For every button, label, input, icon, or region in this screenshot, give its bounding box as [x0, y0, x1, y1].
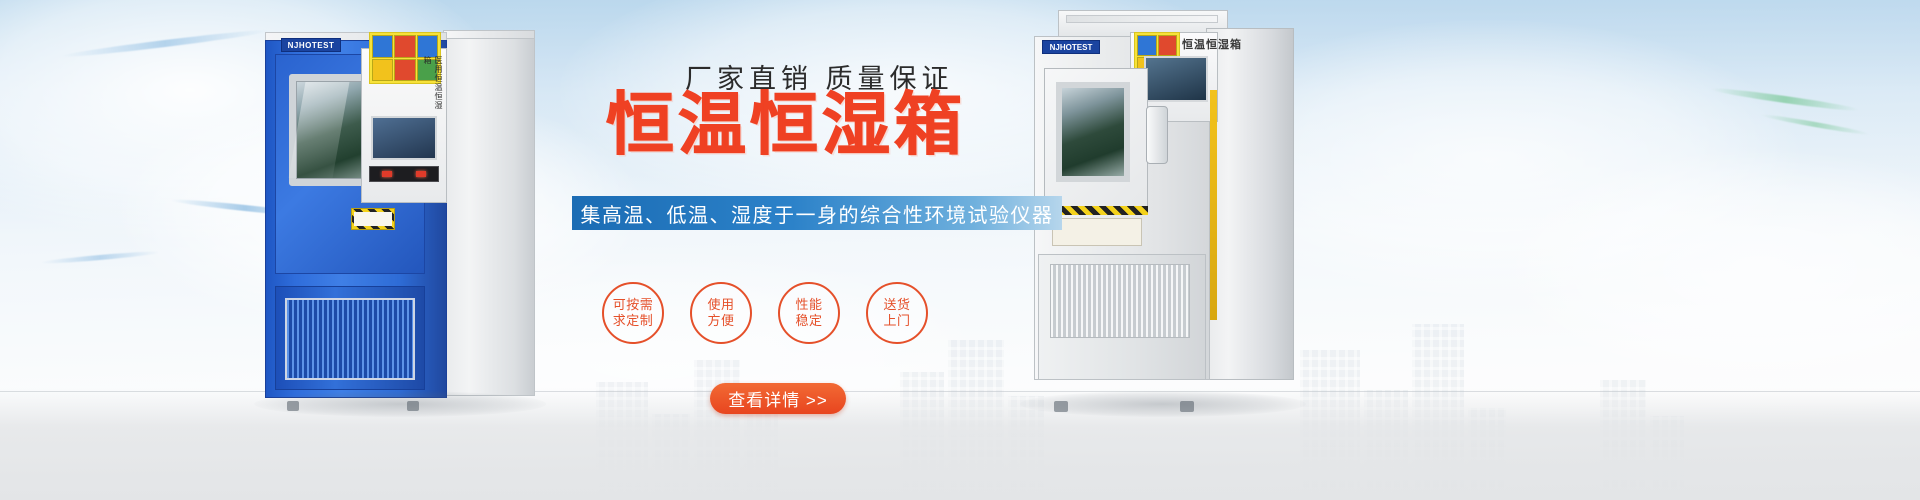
feature-circle-custom[interactable]: 可按需 求定制	[602, 282, 664, 344]
product-image-left: NJHOTEST 医用恒温恒湿箱	[265, 30, 535, 405]
chamber-side-panel	[1206, 28, 1294, 380]
feature-line-2: 稳定	[795, 313, 822, 329]
feature-line-2: 上门	[883, 313, 910, 329]
status-led	[416, 171, 426, 177]
feature-line-2: 方便	[707, 313, 734, 329]
feature-line-1: 使用	[707, 297, 734, 313]
feature-line-1: 可按需	[613, 297, 654, 313]
product-shadow	[254, 391, 546, 417]
chamber-top-vent	[1066, 15, 1218, 23]
banner-headline: 恒温恒湿箱	[606, 92, 966, 160]
promo-banner: NJHOTEST 医用恒温恒湿箱 NJHOTEST 恒温恒湿	[0, 0, 1920, 500]
control-screen	[1144, 56, 1208, 102]
cloud-decoration	[1500, 150, 1920, 390]
feature-line-1: 送货	[883, 297, 910, 313]
panel-model-label: 医用恒温恒湿箱	[364, 56, 444, 112]
banner-subtitle-text: 集高温、低温、湿度于一身的综合性环境试验仪器	[581, 199, 1054, 228]
feature-circle-delivery[interactable]: 送货 上门	[866, 282, 928, 344]
feature-line-1: 性能	[795, 297, 822, 313]
status-led	[382, 171, 392, 177]
banner-copy-block: 厂家直销 质量保证 恒温恒湿箱 集高温、低温、湿度于一身的综合性环境试验仪器 可…	[560, 0, 1080, 500]
blue-streak-decoration	[60, 27, 269, 60]
feature-circle-list: 可按需 求定制 使用 方便 性能 稳定 送货 上门	[602, 282, 928, 344]
brand-logo-left: NJHOTEST	[281, 38, 341, 52]
ventilation-grille	[285, 298, 415, 380]
control-button-row	[369, 166, 439, 182]
product-title-label: 恒温恒湿箱	[1182, 36, 1260, 54]
blue-streak-decoration	[40, 250, 160, 265]
hazard-label	[354, 212, 392, 226]
door-handle	[1146, 106, 1168, 164]
feature-circle-easy-use[interactable]: 使用 方便	[690, 282, 752, 344]
green-streak-decoration	[1710, 86, 1860, 114]
chamber-side-panel	[443, 38, 535, 396]
control-screen	[371, 116, 437, 160]
view-details-button[interactable]: 查看详情 >>	[710, 383, 846, 414]
green-streak-decoration	[1760, 112, 1869, 136]
feature-circle-stable[interactable]: 性能 稳定	[778, 282, 840, 344]
banner-subtitle-bar: 集高温、低温、湿度于一身的综合性环境试验仪器	[572, 196, 1062, 230]
feature-line-2: 求定制	[613, 313, 654, 329]
yellow-accent-strip	[1210, 90, 1217, 320]
